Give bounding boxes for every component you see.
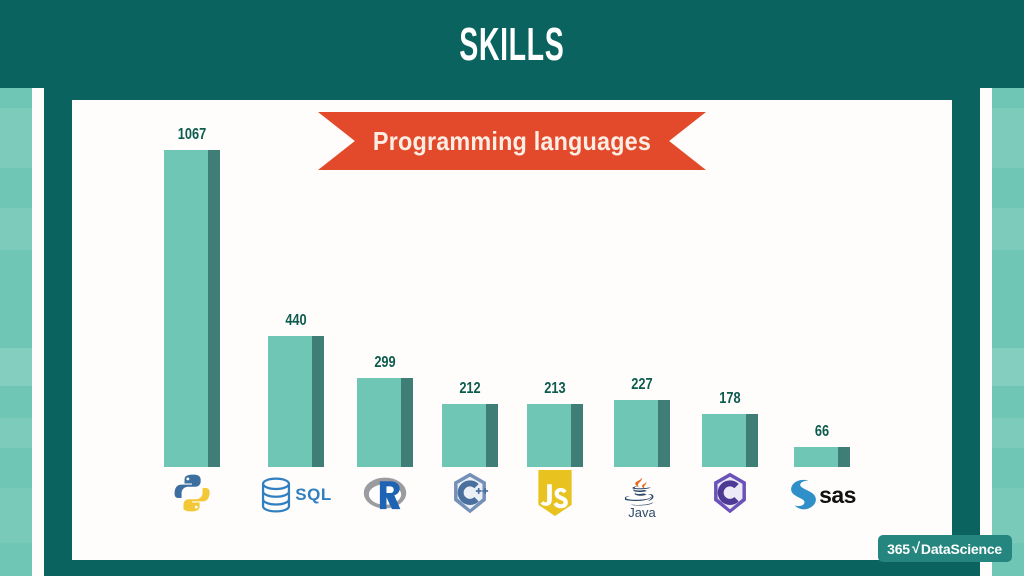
- bar-value-label: 1067: [170, 126, 215, 144]
- bar-icon-wrap: [442, 471, 498, 519]
- strip-block: [0, 488, 32, 543]
- bar[interactable]: [794, 447, 850, 467]
- strip-block: [0, 108, 32, 168]
- square-root-icon: √: [912, 540, 920, 557]
- brand-logo[interactable]: 365 √ DataScience: [878, 535, 1012, 562]
- bar-shadow-edge: [838, 447, 850, 467]
- bar-shadow-edge: [401, 378, 413, 467]
- sql-icon-label: SQL: [295, 485, 331, 505]
- bar-value-label: 227: [620, 376, 665, 394]
- bar-shadow-edge: [208, 150, 220, 467]
- bar[interactable]: [164, 150, 220, 467]
- bar-icon-wrap: [702, 471, 758, 519]
- strip-block: [992, 348, 1024, 386]
- bar-icon-wrap: [164, 471, 220, 519]
- bar-icon-wrap: sas: [794, 471, 850, 519]
- bar-value-label: 440: [274, 312, 319, 330]
- bar-value-label: 213: [533, 380, 578, 398]
- bar[interactable]: [614, 400, 670, 467]
- python-icon: [171, 472, 213, 519]
- bar-value-label: 299: [363, 354, 408, 372]
- brand-logo-prefix: 365: [887, 541, 910, 557]
- right-decorative-strip: [992, 88, 1024, 576]
- bar-value-label: 212: [448, 380, 493, 398]
- bar-shadow-edge: [746, 414, 758, 467]
- brand-logo-name: DataScience: [921, 541, 1002, 557]
- bar-icon-wrap: SQL: [268, 471, 324, 519]
- c-icon: [711, 472, 749, 519]
- sql-icon: SQL: [260, 476, 331, 514]
- strip-block: [992, 418, 1024, 448]
- strip-block: [0, 348, 32, 386]
- bar[interactable]: [702, 414, 758, 467]
- java-icon: Java: [625, 471, 659, 519]
- cpp-icon: [451, 472, 489, 519]
- right-gap: [980, 88, 992, 576]
- bar-value-label: 178: [708, 390, 753, 408]
- bar-icon-wrap: [357, 471, 413, 519]
- strip-block: [0, 418, 32, 448]
- bar-shadow-edge: [486, 404, 498, 467]
- java-icon-label: Java: [628, 506, 655, 519]
- page-title: SKILLS: [459, 17, 564, 71]
- bar-shadow-edge: [312, 336, 324, 467]
- bar-value-label: 66: [800, 423, 845, 441]
- ribbon-label: Programming languages: [337, 112, 686, 170]
- strip-block: [0, 208, 32, 250]
- left-gap: [32, 88, 44, 576]
- bar-shadow-edge: [658, 400, 670, 467]
- javascript-icon: [536, 470, 574, 521]
- bar-icon-wrap: Java: [614, 471, 670, 519]
- bar-icon-wrap: [527, 471, 583, 519]
- strip-block: [992, 208, 1024, 250]
- bar[interactable]: [442, 404, 498, 467]
- bar[interactable]: [268, 336, 324, 467]
- brand-logo-text: 365 √ DataScience: [887, 540, 1002, 557]
- strip-block: [992, 108, 1024, 168]
- sas-icon-label: sas: [819, 482, 856, 509]
- bar[interactable]: [357, 378, 413, 467]
- slide-header: SKILLS: [0, 0, 1024, 88]
- sas-icon: sas: [788, 477, 856, 513]
- bar[interactable]: [527, 404, 583, 467]
- bar-shadow-edge: [571, 404, 583, 467]
- r-icon: [363, 474, 407, 517]
- left-decorative-strip: [0, 88, 32, 576]
